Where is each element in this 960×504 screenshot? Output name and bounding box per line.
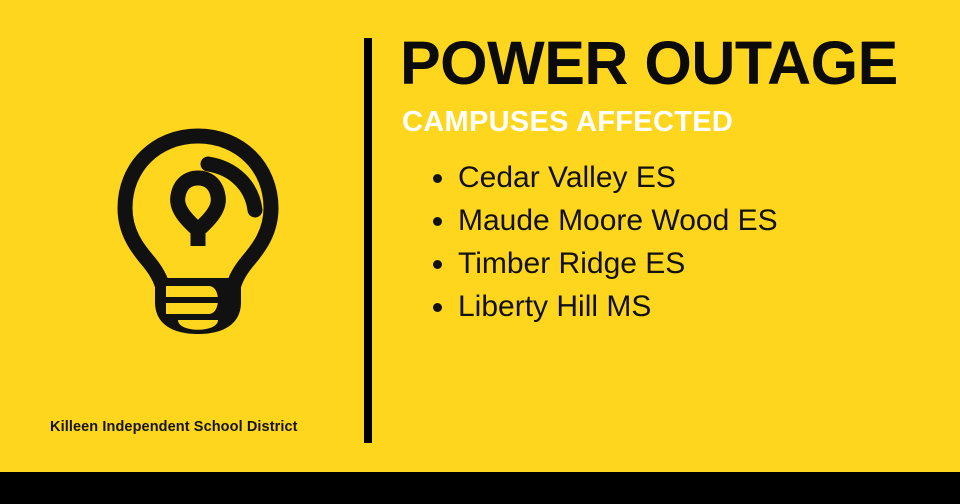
list-item: Maude Moore Wood ES (400, 199, 940, 242)
campus-name: Timber Ridge ES (458, 247, 685, 280)
campus-name: Cedar Valley ES (458, 161, 676, 194)
poster-canvas: POWER OUTAGE CAMPUSES AFFECTED Cedar Val… (0, 0, 960, 472)
list-item: Cedar Valley ES (400, 156, 940, 199)
list-item: Timber Ridge ES (400, 242, 940, 285)
page-title: POWER OUTAGE (400, 32, 940, 94)
organization-credit: Killeen Independent School District (50, 419, 298, 435)
content-column: POWER OUTAGE CAMPUSES AFFECTED Cedar Val… (400, 32, 940, 328)
vertical-divider (364, 38, 372, 443)
bullet-icon (433, 217, 442, 226)
lightbulb-icon (108, 128, 288, 340)
campus-name: Liberty Hill MS (458, 290, 651, 323)
bottom-bar (0, 472, 960, 504)
power-outage-poster: POWER OUTAGE CAMPUSES AFFECTED Cedar Val… (0, 0, 960, 504)
bullet-icon (433, 260, 442, 269)
affected-campuses-list: Cedar Valley ES Maude Moore Wood ES Timb… (400, 156, 940, 328)
list-item: Liberty Hill MS (400, 285, 940, 328)
subtitle: CAMPUSES AFFECTED (402, 106, 940, 138)
bullet-icon (433, 303, 442, 312)
campus-name: Maude Moore Wood ES (458, 204, 778, 237)
bullet-icon (433, 174, 442, 183)
